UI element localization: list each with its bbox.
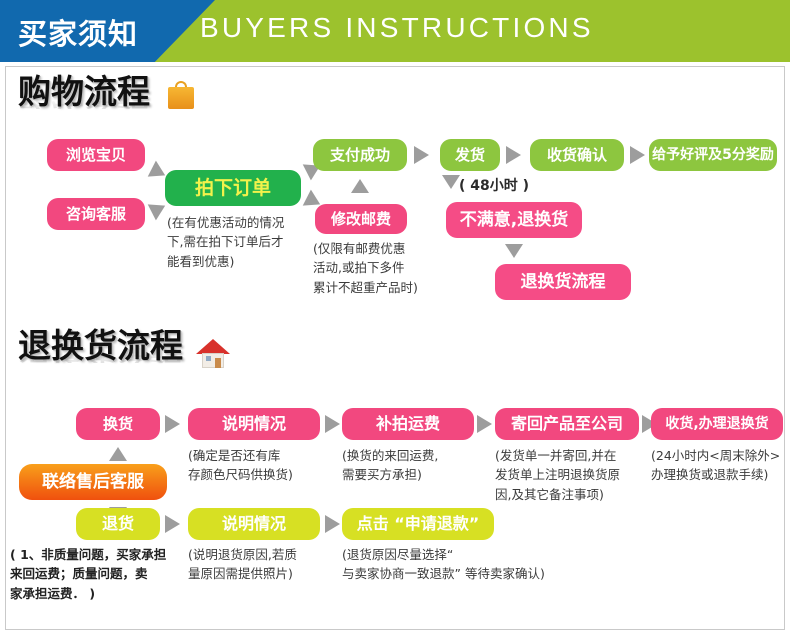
- arrow-explain2-to-click-refund: [325, 515, 340, 533]
- node-click-apply-refund-label: 点击 “申请退款”: [357, 516, 480, 532]
- note-click-apply-refund: (退货原因尽量选择“ 与卖家协商一致退款” 等待卖家确认): [342, 545, 672, 584]
- content-frame: 购物流程 购物流程 浏览宝贝 咨询客服 拍下订单 (在有优惠活动的情况 下,需在…: [5, 66, 785, 630]
- section-title-returns-reflection: 退换货流程: [18, 352, 183, 363]
- node-send-back-to-company[interactable]: 寄回产品至公司: [495, 408, 639, 440]
- node-receive-and-handle-label: 收货,办理退换货: [665, 417, 768, 431]
- house-window: [206, 356, 211, 361]
- arrow-explain1-to-freight: [325, 415, 340, 433]
- arrow-pay-to-ship: [414, 146, 429, 164]
- node-confirm-receipt-label: 收货确认: [547, 148, 607, 163]
- node-confirm-receipt[interactable]: 收货确认: [530, 139, 624, 171]
- note-refund-goods: ( 1、非质量问题，买家承担 来回运费；质量问题，卖 家承担运费． ): [10, 545, 200, 603]
- arrow-ship-to-confirm: [506, 146, 521, 164]
- note-modify-fee: (仅限有邮费优惠 活动,或拍下多件 累计不超重产品时): [313, 239, 445, 297]
- header-title-en: BUYERS INSTRUCTIONS: [200, 12, 594, 44]
- arrow-unsatisfied-to-flow: [505, 244, 523, 258]
- node-exchange-label: 换货: [103, 417, 133, 432]
- node-pay-success-label: 支付成功: [330, 148, 390, 163]
- node-modify-fee[interactable]: 修改邮费: [315, 204, 407, 234]
- arrow-freight-to-sendback: [477, 415, 492, 433]
- note-extra-freight: (换货的来回运费, 需要买方承担): [342, 446, 487, 485]
- node-browse-label: 浏览宝贝: [66, 148, 126, 163]
- house-icon: [196, 339, 230, 369]
- section-title-shopping: 购物流程 购物流程: [18, 75, 150, 129]
- shopping-bag-icon: [168, 81, 194, 109]
- node-unsatisfied-return[interactable]: 不满意,退换货: [446, 202, 582, 238]
- node-contact-after-sales-label: 联络售后客服: [42, 474, 144, 491]
- note-explain-situation-2: (说明退货原因,若质 量原因需提供照片): [188, 545, 333, 584]
- node-place-order-label: 拍下订单: [195, 179, 271, 198]
- node-refund-goods[interactable]: 退货: [76, 508, 160, 540]
- node-return-exchange-flow-label: 退换货流程: [521, 274, 606, 291]
- node-pay-success[interactable]: 支付成功: [313, 139, 407, 171]
- house-door: [215, 358, 221, 368]
- node-return-exchange-flow[interactable]: 退换货流程: [495, 264, 631, 300]
- node-contact-after-sales[interactable]: 联络售后客服: [19, 464, 167, 500]
- node-contact[interactable]: 咨询客服: [47, 198, 145, 230]
- node-extra-freight[interactable]: 补拍运费: [342, 408, 474, 440]
- node-good-review-label: 给予好评及5分奖励: [652, 148, 774, 162]
- house-roof: [196, 339, 230, 354]
- node-click-apply-refund[interactable]: 点击 “申请退款”: [342, 508, 494, 540]
- edge-label-48h: ( 48小时 ): [459, 175, 529, 195]
- node-ship-label: 发货: [455, 148, 485, 163]
- note-explain-situation-1: (确定是否还有库 存颜色尺码供换货): [188, 446, 328, 485]
- node-exchange[interactable]: 换货: [76, 408, 160, 440]
- arrow-refund-to-explain2: [165, 515, 180, 533]
- node-receive-and-handle[interactable]: 收货,办理退换货: [651, 408, 783, 440]
- arrow-exchange-to-explain1: [165, 415, 180, 433]
- node-explain-situation-2-label: 说明情况: [222, 516, 286, 532]
- buyers-instructions-page: 买家须知 BUYERS INSTRUCTIONS 购物流程 购物流程 浏览宝贝 …: [0, 0, 790, 635]
- arrow-modify-fee-to-pay: [351, 179, 369, 193]
- note-place-order: (在有优惠活动的情况 下,需在拍下订单后才 能看到优惠): [167, 213, 312, 271]
- node-unsatisfied-return-label: 不满意,退换货: [460, 212, 568, 229]
- node-good-review[interactable]: 给予好评及5分奖励: [649, 139, 777, 171]
- node-contact-label: 咨询客服: [66, 207, 126, 222]
- node-browse[interactable]: 浏览宝贝: [47, 139, 145, 171]
- node-explain-situation-2[interactable]: 说明情况: [188, 508, 320, 540]
- note-send-back-to-company: (发货单一并寄回,并在 发货单上注明退换货原 因,及其它备注事项): [495, 446, 650, 504]
- note-receive-and-handle: (24小时内<周末除外> 办理换货或退款手续): [651, 446, 790, 485]
- node-extra-freight-label: 补拍运费: [376, 416, 440, 432]
- node-ship[interactable]: 发货: [440, 139, 500, 171]
- section-title-shopping-reflection: 购物流程: [18, 98, 150, 109]
- node-refund-goods-label: 退货: [102, 516, 134, 532]
- arrow-confirm-to-review: [630, 146, 645, 164]
- arrow-ship-to-unsatisfied: [442, 175, 460, 189]
- arrow-contact-to-exchange: [109, 447, 127, 461]
- node-explain-situation-1[interactable]: 说明情况: [188, 408, 320, 440]
- page-header-banner: 买家须知 BUYERS INSTRUCTIONS: [0, 0, 790, 62]
- node-modify-fee-label: 修改邮费: [331, 212, 391, 227]
- section-title-returns: 退换货流程 退换货流程: [18, 329, 183, 383]
- node-place-order[interactable]: 拍下订单: [165, 170, 301, 206]
- node-send-back-to-company-label: 寄回产品至公司: [511, 416, 623, 432]
- node-explain-situation-1-label: 说明情况: [222, 416, 286, 432]
- shopping-bag-body: [168, 87, 194, 109]
- header-title-cn: 买家须知: [18, 11, 138, 53]
